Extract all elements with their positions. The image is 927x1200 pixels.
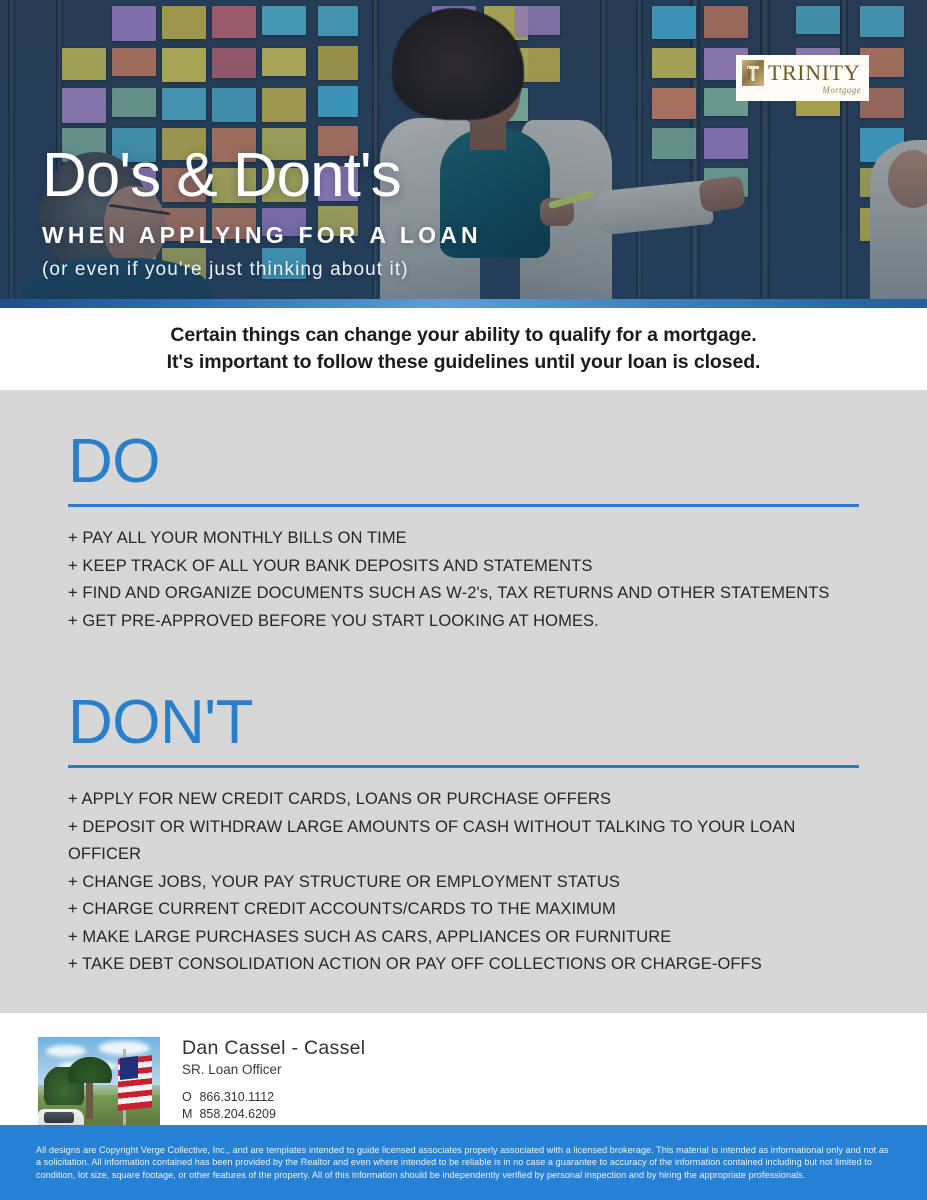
agent-name: Dan Cassel - Cassel	[182, 1037, 365, 1060]
intro-line-1: Certain things can change your ability t…	[170, 322, 756, 349]
trinity-emblem-icon	[742, 60, 764, 86]
mobile-phone-label: M	[182, 1106, 196, 1123]
list-item: + PAY ALL YOUR MONTHLY BILLS ON TIME	[68, 525, 859, 553]
logo-subtext: Mortgage	[742, 85, 861, 95]
flyer-page: Do's & Dont's WHEN APPLYING FOR A LOAN (…	[0, 0, 927, 1200]
footer-disclaimer-bar: All designs are Copyright Verge Collecti…	[0, 1125, 927, 1200]
list-item: + MAKE LARGE PURCHASES SUCH AS CARS, APP…	[68, 924, 859, 952]
do-section: DO + PAY ALL YOUR MONTHLY BILLS ON TIME …	[0, 430, 927, 635]
list-item: + KEEP TRACK OF ALL YOUR BANK DEPOSITS A…	[68, 553, 859, 581]
do-heading: DO	[68, 430, 859, 494]
hero-text-block: Do's & Dont's WHEN APPLYING FOR A LOAN (…	[42, 142, 482, 281]
trinity-mortgage-logo: TRINITY Mortgage	[736, 55, 869, 101]
hero-accent-bar	[0, 299, 927, 308]
intro-block: Certain things can change your ability t…	[0, 308, 927, 390]
dont-section: DON'T + APPLY FOR NEW CREDIT CARDS, LOAN…	[0, 691, 927, 979]
hero-banner: Do's & Dont's WHEN APPLYING FOR A LOAN (…	[0, 0, 927, 308]
agent-photo	[38, 1037, 160, 1137]
guidelines-section: DO + PAY ALL YOUR MONTHLY BILLS ON TIME …	[0, 390, 927, 1013]
logo-wordmark: TRINITY	[768, 61, 860, 85]
do-list: + PAY ALL YOUR MONTHLY BILLS ON TIME + K…	[68, 525, 859, 635]
list-item: + GET PRE-APPROVED BEFORE YOU START LOOK…	[68, 608, 859, 636]
list-item: + CHANGE JOBS, YOUR PAY STRUCTURE OR EMP…	[68, 869, 859, 897]
office-phone-value[interactable]: 866.310.1112	[199, 1090, 274, 1104]
disclaimer-text: All designs are Copyright Verge Collecti…	[0, 1144, 927, 1181]
dont-list: + APPLY FOR NEW CREDIT CARDS, LOANS OR P…	[68, 786, 859, 979]
list-item: + APPLY FOR NEW CREDIT CARDS, LOANS OR P…	[68, 786, 859, 814]
office-phone-row: O 866.310.1112	[182, 1089, 365, 1106]
mobile-phone-row: M 858.204.6209	[182, 1106, 365, 1123]
page-title: Do's & Dont's	[42, 142, 482, 210]
mobile-phone-value[interactable]: 858.204.6209	[199, 1107, 275, 1121]
office-phone-label: O	[182, 1089, 196, 1106]
dont-heading: DON'T	[68, 691, 859, 755]
hero-subtitle: WHEN APPLYING FOR A LOAN	[42, 222, 482, 249]
agent-role: SR. Loan Officer	[182, 1062, 365, 1077]
do-divider	[68, 504, 859, 507]
list-item: + TAKE DEBT CONSOLIDATION ACTION OR PAY …	[68, 951, 859, 979]
list-item: + FIND AND ORGANIZE DOCUMENTS SUCH AS W-…	[68, 580, 859, 608]
intro-line-2: It's important to follow these guideline…	[167, 349, 761, 376]
dont-divider	[68, 765, 859, 768]
list-item: + DEPOSIT OR WITHDRAW LARGE AMOUNTS OF C…	[68, 814, 859, 869]
list-item: + CHARGE CURRENT CREDIT ACCOUNTS/CARDS T…	[68, 896, 859, 924]
hero-tagline: (or even if you're just thinking about i…	[42, 259, 482, 281]
